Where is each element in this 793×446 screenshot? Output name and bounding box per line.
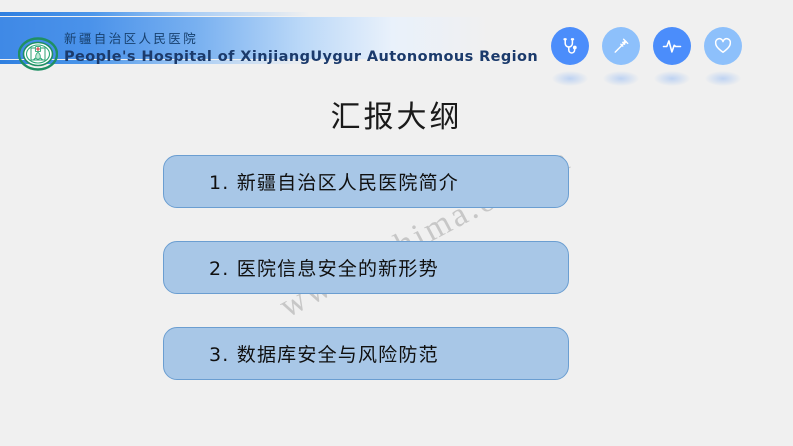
hospital-name-chinese: 新疆自治区人民医院 bbox=[64, 33, 538, 46]
hospital-emblem-icon bbox=[18, 37, 58, 71]
syringe-icon-button[interactable] bbox=[602, 27, 640, 65]
medical-icon-row bbox=[551, 27, 756, 89]
heart-icon-reflection bbox=[705, 71, 741, 86]
syringe-icon bbox=[611, 36, 631, 56]
hospital-header-banner: 新疆自治区人民医院 People's Hospital of XinjiangU… bbox=[0, 12, 490, 64]
page-title: 汇报大纲 bbox=[0, 92, 793, 136]
outline-item-label: 3. 数据库安全与风险防范 bbox=[164, 340, 439, 367]
syringe-icon-reflection bbox=[603, 71, 639, 86]
outline-item-2[interactable]: 2. 医院信息安全的新形势 bbox=[163, 241, 569, 294]
outline-item-label: 2. 医院信息安全的新形势 bbox=[164, 254, 439, 281]
hospital-name-english: People's Hospital of XinjiangUygur Auton… bbox=[64, 50, 538, 65]
outline-list: 1. 新疆自治区人民医院简介 2. 医院信息安全的新形势 3. 数据库安全与风险… bbox=[163, 155, 569, 380]
stethoscope-icon bbox=[560, 36, 580, 56]
outline-item-3[interactable]: 3. 数据库安全与风险防范 bbox=[163, 327, 569, 380]
header-title-group: 新疆自治区人民医院 People's Hospital of XinjiangU… bbox=[64, 33, 538, 64]
outline-item-1[interactable]: 1. 新疆自治区人民医院简介 bbox=[163, 155, 569, 208]
heart-icon bbox=[713, 36, 733, 56]
stethoscope-icon-button[interactable] bbox=[551, 27, 589, 65]
stethoscope-icon-reflection bbox=[552, 71, 588, 86]
pulse-icon bbox=[661, 36, 683, 56]
outline-item-label: 1. 新疆自治区人民医院简介 bbox=[164, 168, 459, 195]
presentation-slide: 新疆自治区人民医院 People's Hospital of XinjiangU… bbox=[0, 0, 793, 446]
pulse-icon-reflection bbox=[654, 71, 690, 86]
heart-icon-button[interactable] bbox=[704, 27, 742, 65]
header-top-rule bbox=[0, 12, 310, 16]
pulse-icon-button[interactable] bbox=[653, 27, 691, 65]
